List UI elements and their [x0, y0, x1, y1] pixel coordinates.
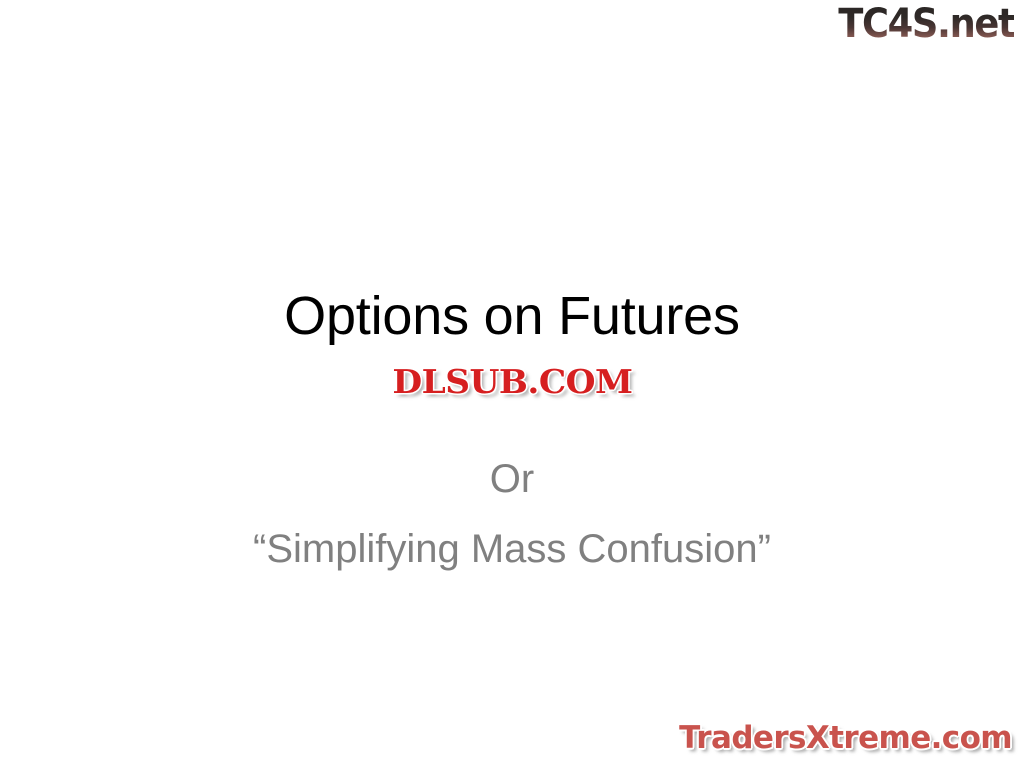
watermark-tradersxtreme-com: TradersXtreme.com	[679, 720, 1012, 756]
page-title: Options on Futures	[0, 285, 1024, 347]
watermark-dlsub-com: DLSUB.COM	[392, 363, 632, 401]
presentation-slide: TC4S.net Options on Futures DLSUB.COM Or…	[0, 0, 1024, 768]
watermark-tc4s-net: TC4S.net	[838, 2, 1014, 46]
subtitle-block: Or “Simplifying Mass Confusion”	[0, 444, 1024, 584]
subtitle-line-1: Or	[0, 444, 1024, 514]
title-block: Options on Futures	[0, 285, 1024, 347]
watermark-dlsub-com-container: DLSUB.COM	[0, 363, 1024, 401]
subtitle-line-2: “Simplifying Mass Confusion”	[0, 514, 1024, 584]
